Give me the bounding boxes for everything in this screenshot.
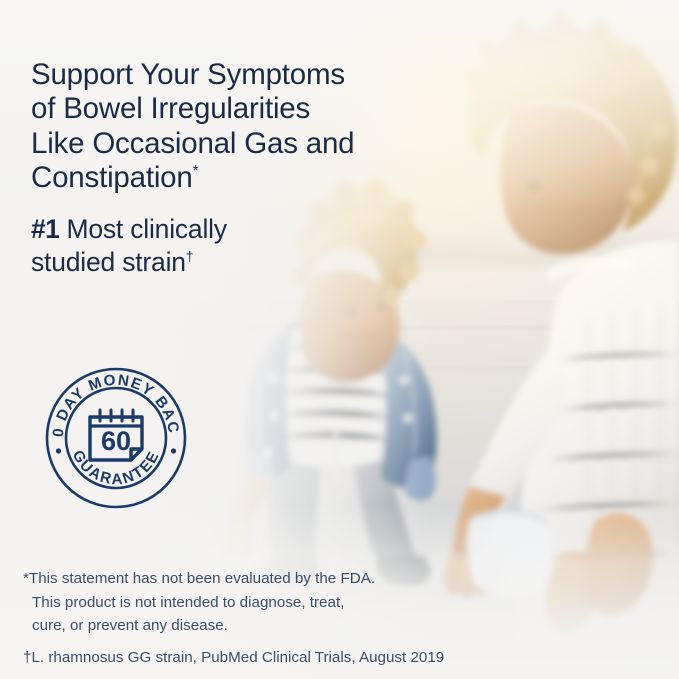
subheadline: #1 Most clinically studied strain† (31, 213, 361, 279)
promo-banner: Support Your Symptoms of Bowel Irregular… (0, 0, 679, 679)
subheadline-line-2-text: studied strain (31, 247, 186, 277)
fda-disclaimer: *This statement has not been evaluated b… (23, 567, 493, 638)
badge-dot-right (171, 448, 176, 453)
disclaimer-line-2: This product is not intended to diagnose… (23, 591, 493, 615)
badge-dot-left (56, 448, 61, 453)
subheadline-line-1-rest: Most clinically (59, 214, 227, 244)
headline-line-4: Constipation* (31, 161, 411, 196)
headline-line-2: of Bowel Irregularities (31, 92, 411, 127)
calendar-icon: 60 (90, 410, 142, 460)
subheadline-line-2: studied strain† (31, 246, 361, 279)
headline-line-3: Like Occasional Gas and (31, 127, 411, 162)
disclaimer-line-1: *This statement has not been evaluated b… (23, 567, 493, 591)
headline-line-1: Support Your Symptoms (31, 58, 411, 93)
disclaimer-line-3: cure, or prevent any disease. (23, 614, 493, 638)
badge-center-number: 60 (101, 426, 131, 456)
asterisk-marker: * (193, 163, 199, 180)
money-back-guarantee-badge: 60 DAY MONEY BACK GUARANTEE 60 (45, 367, 187, 509)
headline-line-4-text: Constipation (31, 161, 193, 194)
strain-citation: †L. rhamnosus GG strain, PubMed Clinical… (23, 648, 583, 668)
page-title: Support Your Symptoms of Bowel Irregular… (31, 58, 411, 196)
rank-number: #1 (31, 214, 59, 244)
subheadline-line-1: #1 Most clinically (31, 213, 361, 246)
dagger-marker: † (186, 249, 194, 264)
